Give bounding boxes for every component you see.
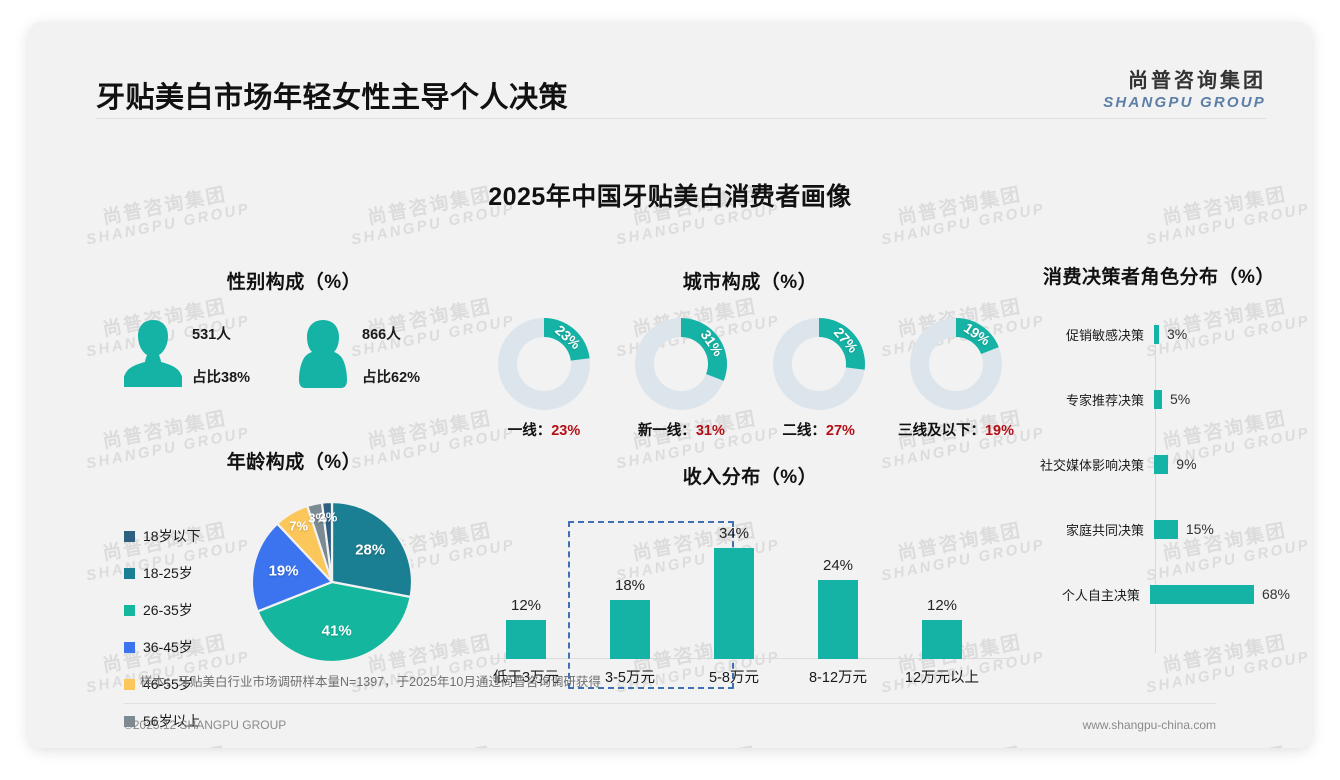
income-bar [818,580,858,659]
decision-title: 消费决策者角色分布（%） [1028,262,1290,289]
decision-bar [1150,585,1254,604]
age-legend-item: 26-35岁 [124,600,234,620]
gender-count: 531人 [192,323,250,344]
decision-bar-value: 15% [1186,521,1214,537]
income-section: 收入分布（%） 12%低于3万元18%3-5万元34%5-8万元24%8-12万… [480,462,1020,689]
income-bar-category: 8-12万元 [784,666,892,687]
age-chart: 18岁以下18-25岁26-35岁36-45岁46-55岁56岁以上 28%41… [124,492,464,748]
decision-bar-value: 9% [1176,456,1196,472]
decision-bar-label: 个人自主决策 [1028,585,1146,604]
income-bar-value: 18% [602,577,658,594]
gender-section: 性别构成（%） 531人占比38%866人占比62% [124,267,464,393]
age-pie-chart: 28%41%19%7%3%2% [242,492,422,672]
legend-swatch-icon [124,642,135,653]
income-bar-group: 34% [706,548,762,659]
decision-section: 消费决策者角色分布（%） 促销敏感决策3%专家推荐决策5%社交媒体影响决策9%家… [1028,262,1290,653]
legend-swatch-icon [124,605,135,616]
income-bar [610,600,650,659]
city-section: 城市构成（%） 23%一线：23%31%新一线：31%27%二线：27%19%三… [480,267,1020,440]
gender-share: 占比62% [362,366,420,387]
decision-bar-label: 专家推荐决策 [1028,390,1150,409]
gender-items: 531人占比38%866人占比62% [124,316,464,393]
header: 牙贴美白市场年轻女性主导个人决策 尚普咨询集团 SHANGPU GROUP [28,22,1312,118]
donut-caption: 一线：23% [480,419,608,440]
pie-slice-label: 7% [289,518,308,533]
legend-label: 36-45岁 [143,637,193,657]
income-bar-chart: 12%低于3万元18%3-5万元34%5-8万元24%8-12万元12%12万元… [480,511,1020,689]
income-bar-category: 5-8万元 [680,666,788,687]
decision-bar [1154,390,1162,409]
logo-en-text: SHANGPU GROUP [1103,94,1266,111]
infographic-card: 尚普咨询集团SHANGPU GROUP尚普咨询集团SHANGPU GROUP尚普… [28,22,1312,748]
donut-caption-value: 31% [696,423,725,439]
decision-bar [1154,455,1168,474]
city-title: 城市构成（%） [480,267,1020,294]
gender-share: 占比38% [192,366,250,387]
decision-bar-row: 家庭共同决策15% [1028,518,1290,540]
footer-divider [124,703,1216,704]
income-bar-value: 24% [810,557,866,574]
age-legend-item: 18岁以下 [124,526,234,546]
gender-title: 性别构成（%） [124,267,464,294]
watermark: 尚普咨询集团SHANGPU GROUP [876,741,1046,748]
donut-caption: 新一线：31% [617,419,745,440]
header-divider [96,118,1266,119]
age-legend-item: 18-25岁 [124,563,234,583]
decision-bar-row: 个人自主决策68% [1028,583,1290,605]
donut-caption-value: 23% [551,423,580,439]
decision-bar-row: 促销敏感决策3% [1028,323,1290,345]
income-bar-category: 12万元以上 [888,666,996,687]
logo-cn-text: 尚普咨询集团 [1103,64,1266,93]
income-bar-group: 24% [810,580,866,659]
watermark: 尚普咨询集团SHANGPU GROUP [1141,741,1311,748]
donut-caption: 二线：27% [755,419,883,440]
income-title: 收入分布（%） [480,462,1020,489]
page-title: 牙贴美白市场年轻女性主导个人决策 [96,74,568,116]
city-donut-group: 23%一线：23%31%新一线：31%27%二线：27%19%三线及以下：19% [480,318,1020,440]
decision-bar-value: 68% [1262,586,1290,602]
gender-count: 866人 [362,323,420,344]
income-bar-group: 18% [602,600,658,659]
pie-slice-label: 28% [355,542,385,559]
decision-bar-row: 社交媒体影响决策9% [1028,453,1290,475]
website-text: www.shangpu-china.com [1083,718,1216,732]
donut-caption-value: 27% [826,423,855,439]
decision-bar-row: 专家推荐决策5% [1028,388,1290,410]
income-bar [714,548,754,659]
income-bar-group: 12% [914,620,970,659]
city-donut-二线: 27%二线：27% [755,318,883,440]
income-bar-group: 12% [498,620,554,659]
female-avatar-icon [294,316,352,393]
age-legend-item: 36-45岁 [124,637,234,657]
gender-female-block: 866人占比62% [294,316,464,393]
pie-slice-label: 41% [322,623,352,640]
age-legend: 18岁以下18-25岁26-35岁36-45岁46-55岁56岁以上 [124,492,234,748]
brand-logo: 尚普咨询集团 SHANGPU GROUP [1103,64,1266,111]
watermark: 尚普咨询集团SHANGPU GROUP [611,741,781,748]
city-donut-一线: 23%一线：23% [480,318,608,440]
pie-slice-label: 2% [318,509,337,524]
decision-bar-value: 3% [1167,326,1187,342]
income-bar-value: 34% [706,525,762,542]
decision-bar-label: 社交媒体影响决策 [1028,455,1150,474]
chart-subtitle: 2025年中国牙贴美白消费者画像 [28,177,1312,213]
legend-swatch-icon [124,531,135,542]
gender-male-block: 531人占比38% [124,316,294,393]
pie-slice-label: 19% [269,563,299,580]
decision-bar [1154,325,1159,344]
income-bar [922,620,962,659]
age-title: 年龄构成（%） [124,447,464,474]
legend-label: 26-35岁 [143,600,193,620]
male-avatar-icon [124,316,182,393]
income-bar [506,620,546,659]
donut-caption-value: 19% [985,423,1014,439]
legend-swatch-icon [124,679,135,690]
legend-label: 18-25岁 [143,563,193,583]
sample-note: 样本：牙贴美白行业市场调研样本量N=1397，于2025年10月通过尚普咨询调研… [140,671,601,690]
income-bar-value: 12% [914,597,970,614]
donut-caption: 三线及以下：19% [892,419,1020,440]
legend-label: 18岁以下 [143,526,201,546]
legend-swatch-icon [124,568,135,579]
decision-bar-label: 促销敏感决策 [1028,325,1150,344]
decision-bar-value: 5% [1170,391,1190,407]
income-bar-value: 12% [498,597,554,614]
city-donut-三线及以下: 19%三线及以下：19% [892,318,1020,440]
decision-bar-chart: 促销敏感决策3%专家推荐决策5%社交媒体影响决策9%家庭共同决策15%个人自主决… [1028,323,1290,653]
decision-bar-label: 家庭共同决策 [1028,520,1150,539]
city-donut-新一线: 31%新一线：31% [617,318,745,440]
copyright-text: ©2025.12 SHANGPU GROUP [124,718,286,732]
decision-bar [1154,520,1178,539]
